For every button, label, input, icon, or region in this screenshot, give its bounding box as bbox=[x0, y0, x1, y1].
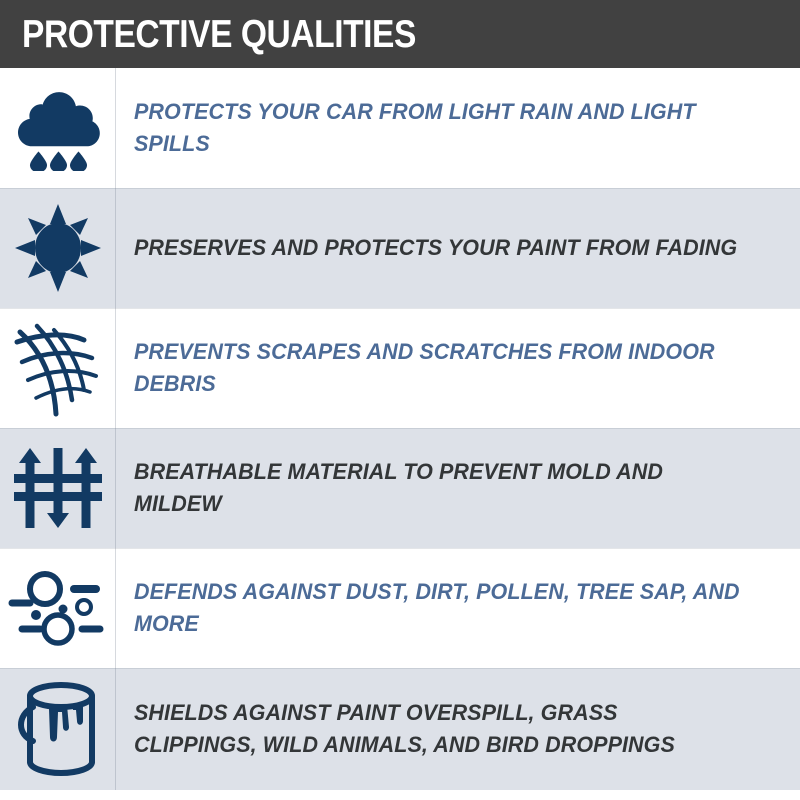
text-cell: DEFENDS AGAINST DUST, DIRT, POLLEN, TREE… bbox=[116, 548, 800, 668]
feature-row: PREVENTS SCRAPES AND SCRATCHES FROM INDO… bbox=[0, 308, 800, 428]
feature-text: PRESERVES AND PROTECTS YOUR PAINT FROM F… bbox=[134, 232, 737, 264]
paint-can-icon bbox=[13, 679, 103, 779]
feature-row: PRESERVES AND PROTECTS YOUR PAINT FROM F… bbox=[0, 188, 800, 308]
text-cell: PREVENTS SCRAPES AND SCRATCHES FROM INDO… bbox=[116, 308, 800, 428]
feature-text: BREATHABLE MATERIAL TO PREVENT MOLD AND … bbox=[134, 456, 745, 520]
feature-row: SHIELDS AGAINST PAINT OVERSPILL, GRASS C… bbox=[0, 668, 800, 790]
icon-cell bbox=[0, 188, 116, 308]
icon-cell bbox=[0, 548, 116, 668]
feature-text: DEFENDS AGAINST DUST, DIRT, POLLEN, TREE… bbox=[134, 576, 745, 640]
text-cell: PROTECTS YOUR CAR FROM LIGHT RAIN AND LI… bbox=[116, 68, 800, 188]
feature-list: PROTECTS YOUR CAR FROM LIGHT RAIN AND LI… bbox=[0, 68, 800, 790]
feature-text: PROTECTS YOUR CAR FROM LIGHT RAIN AND LI… bbox=[134, 96, 745, 160]
icon-cell bbox=[0, 68, 116, 188]
scratch-mesh-icon bbox=[10, 318, 106, 418]
rain-cloud-icon bbox=[12, 85, 104, 171]
sun-icon bbox=[13, 202, 103, 294]
icon-cell bbox=[0, 668, 116, 790]
feature-text: SHIELDS AGAINST PAINT OVERSPILL, GRASS C… bbox=[134, 697, 745, 761]
feature-row: DEFENDS AGAINST DUST, DIRT, POLLEN, TREE… bbox=[0, 548, 800, 668]
header-bar: PROTECTIVE QUALITIES bbox=[0, 0, 800, 68]
breathable-airflow-icon bbox=[12, 444, 104, 532]
page-title: PROTECTIVE QUALITIES bbox=[22, 15, 416, 54]
feature-row: PROTECTS YOUR CAR FROM LIGHT RAIN AND LI… bbox=[0, 68, 800, 188]
text-cell: SHIELDS AGAINST PAINT OVERSPILL, GRASS C… bbox=[116, 668, 800, 790]
bottom-strip bbox=[0, 790, 800, 800]
text-cell: BREATHABLE MATERIAL TO PREVENT MOLD AND … bbox=[116, 428, 800, 548]
icon-cell bbox=[0, 308, 116, 428]
dust-particles-icon bbox=[8, 563, 108, 653]
feature-row: BREATHABLE MATERIAL TO PREVENT MOLD AND … bbox=[0, 428, 800, 548]
protective-qualities-infographic: PROTECTIVE QUALITIES PROTECTS YOUR CAR F… bbox=[0, 0, 800, 800]
text-cell: PRESERVES AND PROTECTS YOUR PAINT FROM F… bbox=[116, 188, 800, 308]
icon-cell bbox=[0, 428, 116, 548]
feature-text: PREVENTS SCRAPES AND SCRATCHES FROM INDO… bbox=[134, 336, 745, 400]
